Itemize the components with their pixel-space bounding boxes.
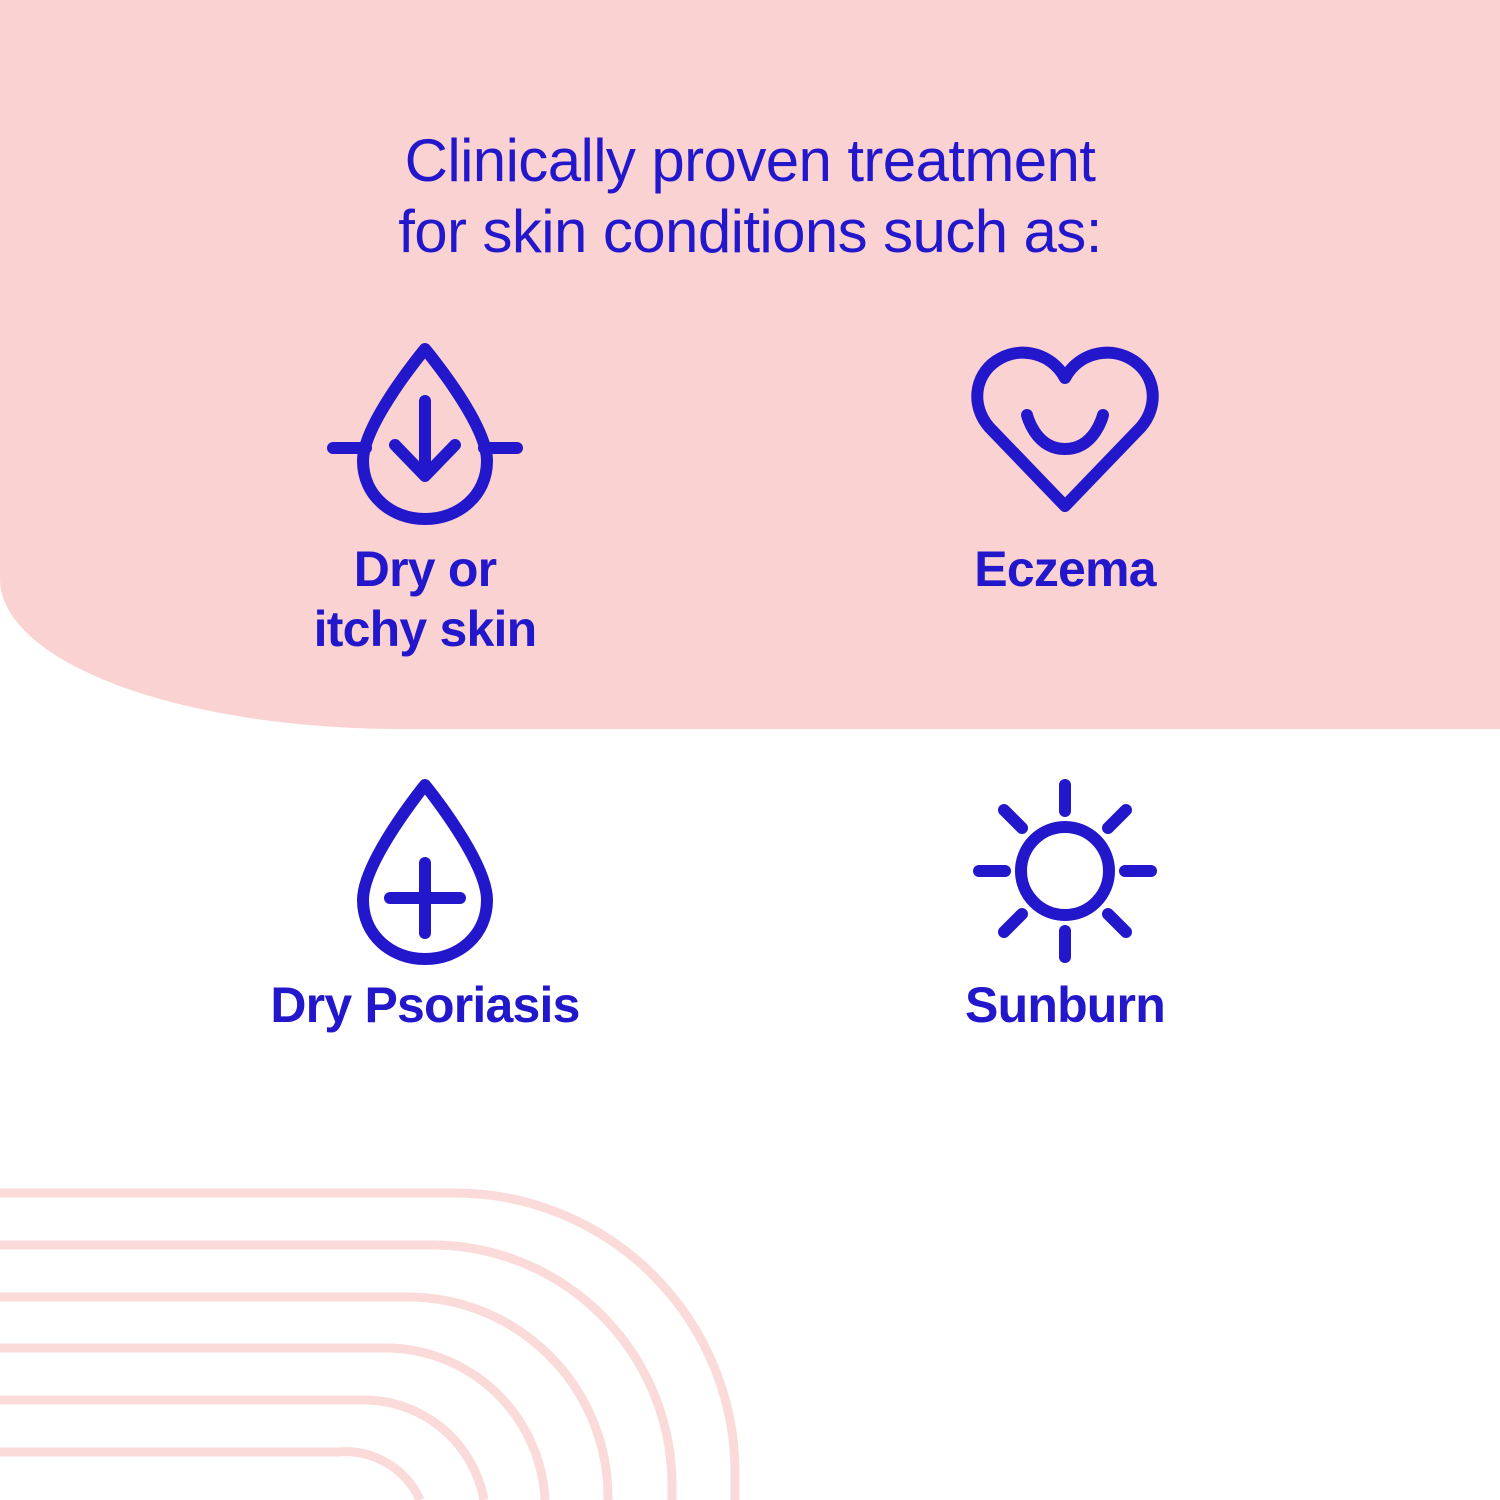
condition-label: Dry or itchy skin bbox=[215, 539, 635, 659]
heart-smile-icon bbox=[855, 335, 1275, 531]
page-headline: Clinically proven treatment for skin con… bbox=[0, 126, 1500, 268]
condition-label: Eczema bbox=[855, 539, 1275, 599]
infographic-canvas: Clinically proven treatment for skin con… bbox=[0, 0, 1500, 1500]
condition-label: Dry Psoriasis bbox=[215, 975, 635, 1035]
condition-card-dry-psoriasis: Dry Psoriasis bbox=[215, 775, 635, 1035]
droplet-down-arrow-icon bbox=[215, 335, 635, 531]
condition-card-eczema: Eczema bbox=[855, 335, 1275, 599]
condition-card-dry-or-itchy-skin: Dry or itchy skin bbox=[215, 335, 635, 659]
droplet-plus-icon bbox=[215, 775, 635, 967]
condition-card-sunburn: Sunburn bbox=[855, 775, 1275, 1035]
condition-label: Sunburn bbox=[855, 975, 1275, 1035]
sun-icon bbox=[855, 775, 1275, 967]
